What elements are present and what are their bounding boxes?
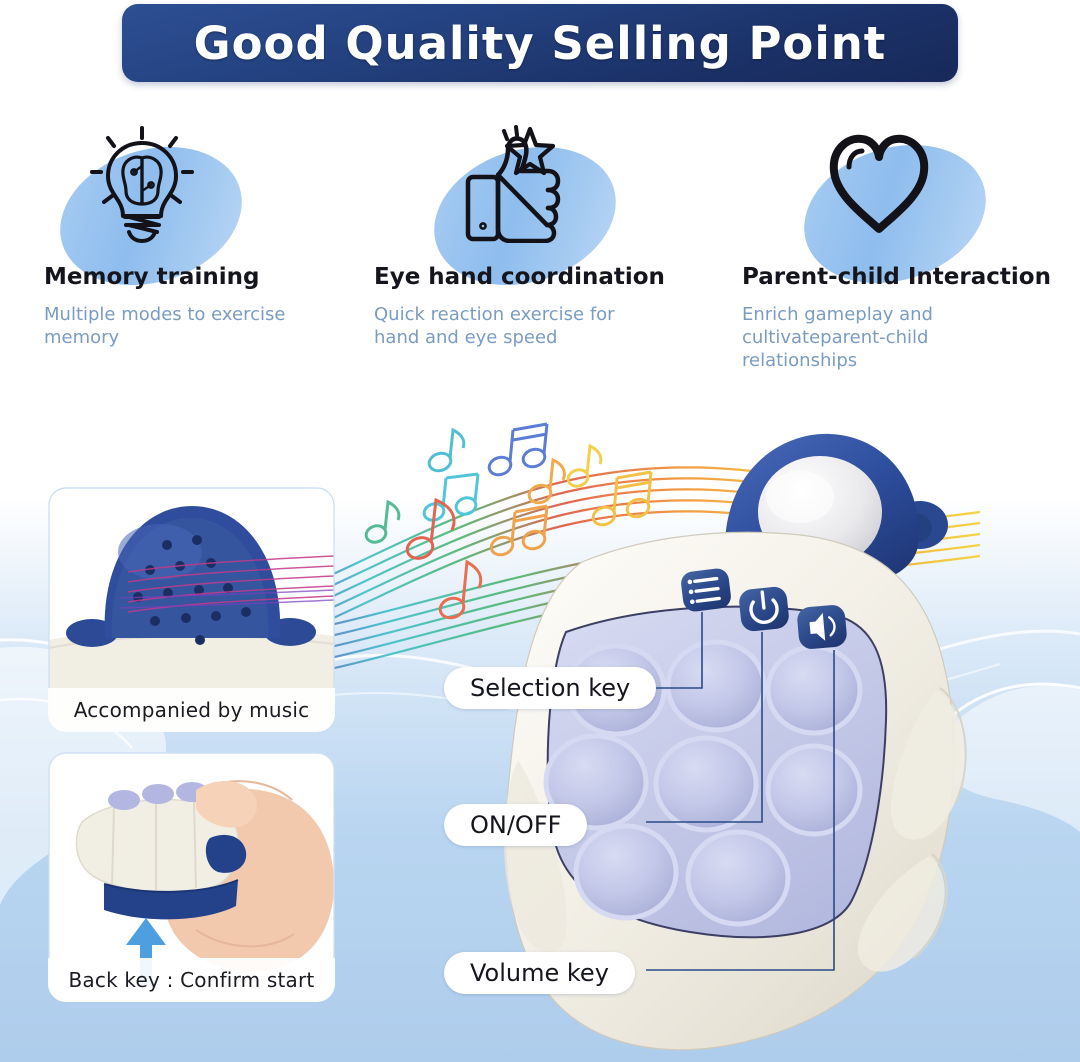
- thumbs-up-star-icon: [374, 120, 720, 248]
- music-card-caption: Accompanied by music: [48, 688, 335, 732]
- music-card: Accompanied by music: [48, 487, 335, 732]
- feature-row: Memory training Multiple modes to exerci…: [0, 120, 1080, 405]
- lightbulb-brain-icon: [44, 120, 360, 248]
- volume-button: [796, 604, 847, 650]
- page-title: Good Quality Selling Point: [194, 17, 887, 70]
- callout-volume-key: Volume key: [444, 952, 635, 994]
- feature-description: Enrich gameplay and cultivateparent-chil…: [742, 304, 1032, 373]
- selection-key-button: [680, 567, 733, 613]
- feature-eye-hand-coordination: Eye hand coordination Quick reaction exe…: [360, 120, 720, 405]
- back-key-card: Back key : Confirm start: [48, 752, 335, 1002]
- back-key-card-caption: Back key : Confirm start: [48, 958, 335, 1002]
- feature-title: Memory training: [44, 264, 360, 290]
- feature-description: Quick reaction exercise for hand and eye…: [374, 304, 664, 350]
- feature-description: Multiple modes to exercise memory: [44, 304, 334, 350]
- heart-icon: [742, 120, 1080, 248]
- feature-memory-training: Memory training Multiple modes to exerci…: [0, 120, 360, 405]
- callout-on-off-key: ON/OFF: [444, 804, 587, 846]
- callout-selection-key: Selection key: [444, 667, 656, 709]
- feature-parent-child-interaction: Parent-child Interaction Enrich gameplay…: [720, 120, 1080, 405]
- feature-title: Eye hand coordination: [374, 264, 720, 290]
- header-banner: Good Quality Selling Point: [122, 4, 958, 82]
- power-button: [738, 586, 790, 633]
- feature-title: Parent-child Interaction: [742, 264, 1080, 290]
